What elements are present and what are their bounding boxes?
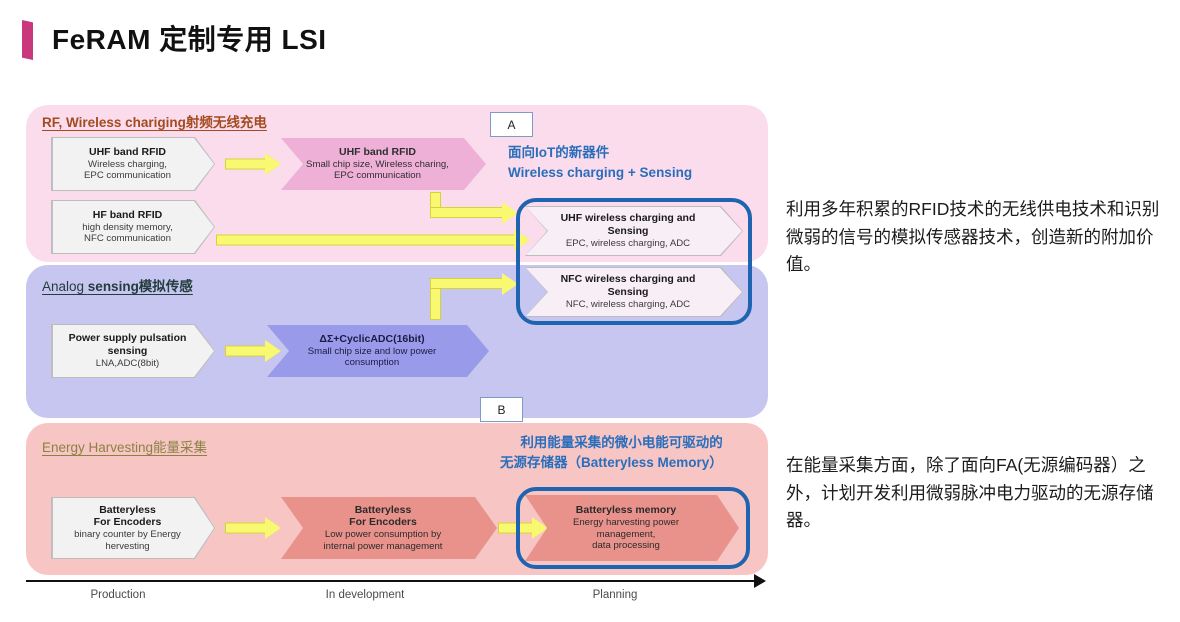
box-batteryless-encoders-dev: Batteryless For Encoders Low power consu… [281,497,497,559]
timeline-label-in-development: In development [300,589,430,601]
panel-analog-heading: Analog sensing模拟传感 [42,275,193,295]
box-line2: consumption [345,357,399,369]
box-title: ΔΣ+CyclicADC(16bit) [319,333,424,346]
box-line1: Wireless charging, [88,159,167,171]
side-note-rfid-analog: 利用多年积累的RFID技术的无线供电技术和识别微弱的信号的模拟传感器技术，创造新… [786,196,1168,279]
box-title: Batteryless [99,504,156,517]
callout-line-1: 利用能量采集的微小电能可驱动的 [500,433,723,453]
callout-line-1: 面向IoT的新器件 [508,143,692,163]
highlight-frame-batteryless-memory [516,487,750,569]
box-line1: LNA,ADC(8bit) [96,358,159,370]
box-title-2: For Encoders [94,516,162,529]
box-line2: hervesting [105,541,149,553]
box-title: UHF band RFID [89,146,166,159]
arrow-encoders-current-to-dev [225,516,281,540]
marker-box-b: B [480,397,523,422]
box-title: HF band RFID [93,209,162,222]
box-line1: Low power consumption by [325,529,441,541]
panel-rf-heading: RF, Wireless chariging射频无线充电 [42,111,267,131]
side-note-energy-harvesting: 在能量采集方面，除了面向FA(无源编码器）之外，计划开发利用微弱脉冲电力驱动的无… [786,452,1168,535]
timeline-label-planning: Planning [555,589,675,601]
timeline-axis [26,580,756,582]
box-line2: NFC communication [84,233,171,245]
timeline-arrow-head-icon [754,574,766,588]
box-cyclic-adc-16bit: ΔΣ+CyclicADC(16bit) Small chip size and … [267,325,489,377]
box-line2: internal power management [324,541,443,553]
box-title: Batteryless [355,504,412,517]
arrow-pulsation-to-adc [225,339,281,363]
highlight-frame-sensing [516,198,752,325]
title-accent-bar [22,20,33,60]
callout-line-2: 无源存储器（Batteryless Memory） [500,453,723,473]
box-line2: EPC communication [84,170,171,182]
box-uhf-band-rfid-dev: UHF band RFID Small chip size, Wireless … [281,138,486,190]
arrow-elbow-adc-to-nfc-sensing [430,268,530,320]
box-line1: Small chip size and low power [308,346,437,358]
box-title: Power supply pulsation [69,332,187,345]
page-title: FeRAM 定制专用 LSI [52,18,327,58]
arrow-uhf-current-to-dev [225,152,281,176]
marker-box-a: A [490,112,533,137]
box-power-supply-pulsation-sensing: Power supply pulsation sensing LNA,ADC(8… [52,325,214,377]
title-bar: FeRAM 定制专用 LSI [0,16,760,62]
box-uhf-band-rfid-current: UHF band RFID Wireless charging, EPC com… [52,138,214,190]
panel-energy-heading: Energy Harvesting能量采集 [42,436,207,456]
box-title-2: sensing [108,345,148,358]
box-line1: binary counter by Energy [74,529,181,541]
arrow-hf-to-uhf-sensing [216,228,530,252]
panel-analog-heading-plain: Analog [42,279,88,294]
callout-batteryless-memory: 利用能量采集的微小电能可驱动的 无源存储器（Batteryless Memory… [500,433,723,472]
arrow-elbow-uhf-dev-to-sensing [430,192,530,226]
callout-iot-new-devices: 面向IoT的新器件 Wireless charging + Sensing [508,143,692,182]
callout-line-2: Wireless charging + Sensing [508,163,692,183]
box-line1: high density memory, [82,222,172,234]
panel-analog-heading-bold: sensing模拟传感 [88,279,193,294]
box-title: UHF band RFID [339,146,416,159]
box-batteryless-encoders-current: Batteryless For Encoders binary counter … [52,498,214,558]
box-line1: Small chip size, Wireless charing, [306,159,449,171]
box-line2: EPC communication [334,170,421,182]
box-hf-band-rfid-current: HF band RFID high density memory, NFC co… [52,201,214,253]
box-title-2: For Encoders [349,516,417,529]
timeline-label-production: Production [58,589,178,601]
